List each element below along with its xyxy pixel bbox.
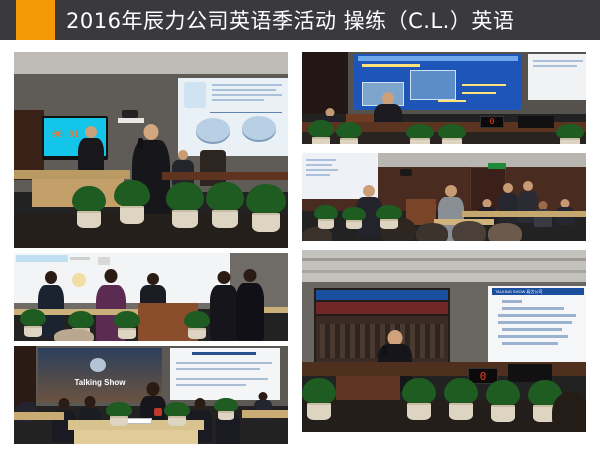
plant — [114, 180, 150, 224]
slide-text-line — [306, 159, 336, 161]
slide-heading-text — [362, 64, 420, 67]
plant — [114, 311, 140, 339]
slide-text-line — [176, 368, 260, 370]
person-hugging-right — [236, 269, 264, 341]
plant — [402, 378, 436, 420]
slide-photo-thumb — [410, 70, 456, 100]
photo-3-scene — [302, 153, 586, 241]
presentation-slide: 2016年辰力公司英语季活动 操练（C.L.）英语 — [0, 0, 600, 450]
head — [218, 271, 231, 284]
slide-text-line — [502, 300, 522, 303]
photo-1-scene: 00:01 — [14, 52, 288, 248]
red-object — [154, 408, 162, 416]
front-desk — [14, 170, 130, 179]
slide-text-line — [306, 164, 332, 166]
head — [503, 183, 513, 193]
slide-title-bar — [358, 56, 518, 61]
audience-head — [302, 227, 332, 241]
body — [236, 283, 264, 341]
head — [105, 269, 118, 283]
audience-head — [452, 221, 486, 241]
plant — [376, 205, 402, 229]
slide-text-line — [498, 335, 568, 338]
pie-chart-right — [242, 116, 276, 140]
long-table — [162, 172, 288, 180]
photo-4-scene — [14, 253, 288, 341]
slide-text-line — [502, 342, 558, 345]
audience-head — [416, 223, 448, 241]
slide-text-line — [212, 84, 282, 86]
ceiling-rail — [302, 258, 586, 261]
photo-talking-show-panel[interactable]: Talking Show — [12, 344, 290, 446]
equipment-box — [518, 116, 554, 128]
exit-sign — [488, 163, 506, 169]
desk — [462, 211, 586, 217]
slide-text-line — [176, 362, 272, 364]
plant — [556, 124, 584, 144]
slide-bullet — [462, 92, 496, 94]
slide-heading-text: TALKING SHOW 辰力公司 — [493, 289, 583, 294]
plant — [302, 378, 336, 420]
plant — [166, 182, 204, 228]
head — [195, 398, 206, 410]
slide-text-line — [533, 60, 583, 62]
photo-5-scene: TALKING SHOW 辰力公司 — [302, 250, 586, 432]
microphone — [382, 346, 387, 356]
plant — [342, 207, 366, 229]
table-front — [74, 430, 198, 444]
photo-grid: 00:01 — [0, 40, 600, 450]
plant — [406, 124, 434, 144]
plant — [72, 186, 106, 228]
head — [363, 185, 375, 197]
plant — [184, 311, 210, 339]
photo-podium-group-photo-slide[interactable]: TALKING SHOW 辰力公司 — [300, 248, 588, 434]
head — [85, 126, 97, 138]
slide-text-line — [212, 94, 282, 96]
head — [244, 269, 257, 282]
audience-head — [54, 329, 94, 341]
digital-timer: 0 — [480, 116, 504, 128]
slide-text-line — [176, 378, 268, 380]
plant — [246, 184, 286, 232]
person-hugging-left — [210, 271, 238, 341]
table-right — [264, 307, 288, 313]
slide-text-line — [306, 174, 330, 176]
body — [210, 285, 238, 341]
slide-banner — [316, 290, 448, 300]
banner-red — [316, 302, 448, 314]
office-chair — [200, 150, 226, 186]
audience-head — [488, 223, 522, 241]
head — [147, 382, 160, 396]
plant — [308, 120, 334, 144]
person-standing-right — [498, 183, 518, 223]
plant — [214, 398, 238, 420]
slide-icon — [98, 257, 110, 265]
slide-text-line — [176, 384, 246, 386]
head — [59, 398, 70, 410]
slide-text-line — [502, 307, 564, 310]
slide-text-line — [70, 257, 90, 260]
plant — [314, 205, 338, 229]
head — [523, 181, 533, 191]
head — [147, 273, 159, 285]
slide-divider — [210, 112, 282, 113]
slide-text-line — [498, 321, 572, 324]
projector-mount — [118, 118, 144, 123]
photo-award-handshake[interactable] — [12, 251, 290, 343]
slide-header-band — [16, 255, 68, 262]
side-desk-right — [242, 410, 288, 418]
projection-screen-text — [488, 286, 586, 364]
projector — [122, 110, 138, 118]
slide-text-line — [306, 169, 338, 171]
head — [178, 150, 188, 160]
person-seated — [172, 150, 194, 186]
pie-chart-left — [196, 118, 230, 142]
plant — [206, 182, 244, 228]
header-accent-bar — [16, 0, 55, 40]
wood-panel-left — [302, 52, 348, 114]
logo-icon — [90, 358, 106, 372]
body — [498, 193, 518, 223]
photo-podium-blue-slide[interactable]: 0 — [300, 50, 588, 146]
ceiling — [14, 52, 288, 74]
head — [144, 124, 159, 140]
plant — [164, 402, 190, 426]
plant — [336, 122, 362, 144]
slide-bullet — [462, 84, 506, 86]
side-desk-left — [14, 412, 64, 420]
plant — [20, 309, 46, 337]
slide-title-line — [192, 352, 256, 355]
microphone — [138, 138, 143, 148]
ceiling-rail — [302, 270, 586, 273]
photo-qa-session[interactable] — [300, 151, 588, 243]
slide-header: 2016年辰力公司英语季活动 操练（C.L.）英语 — [0, 0, 600, 40]
head — [45, 271, 57, 284]
slide-text-line — [212, 89, 276, 91]
projector — [400, 169, 412, 176]
slide-text-line — [502, 328, 562, 331]
slide-graphic — [72, 273, 86, 287]
plant — [444, 378, 478, 420]
page-title: 2016年辰力公司英语季活动 操练（C.L.）英语 — [66, 5, 514, 35]
timer-value: 0 — [490, 118, 495, 126]
photo-presenter-pie-chart[interactable]: 00:01 — [12, 50, 290, 250]
photo-6-scene: Talking Show — [14, 346, 288, 444]
slide-text-line — [533, 65, 577, 67]
slide-avatar — [184, 82, 206, 108]
countdown-timer-display: 00:01 — [52, 130, 79, 140]
head — [445, 185, 457, 197]
head — [85, 396, 96, 408]
plant — [438, 124, 466, 144]
plant — [486, 380, 520, 422]
slide-text-line — [212, 99, 264, 101]
plant — [106, 402, 132, 426]
slide-text-line — [498, 314, 576, 317]
ceiling — [302, 250, 586, 282]
audience-head — [552, 392, 586, 432]
slide-bullet — [438, 100, 466, 102]
photo-2-scene: 0 — [302, 52, 586, 144]
